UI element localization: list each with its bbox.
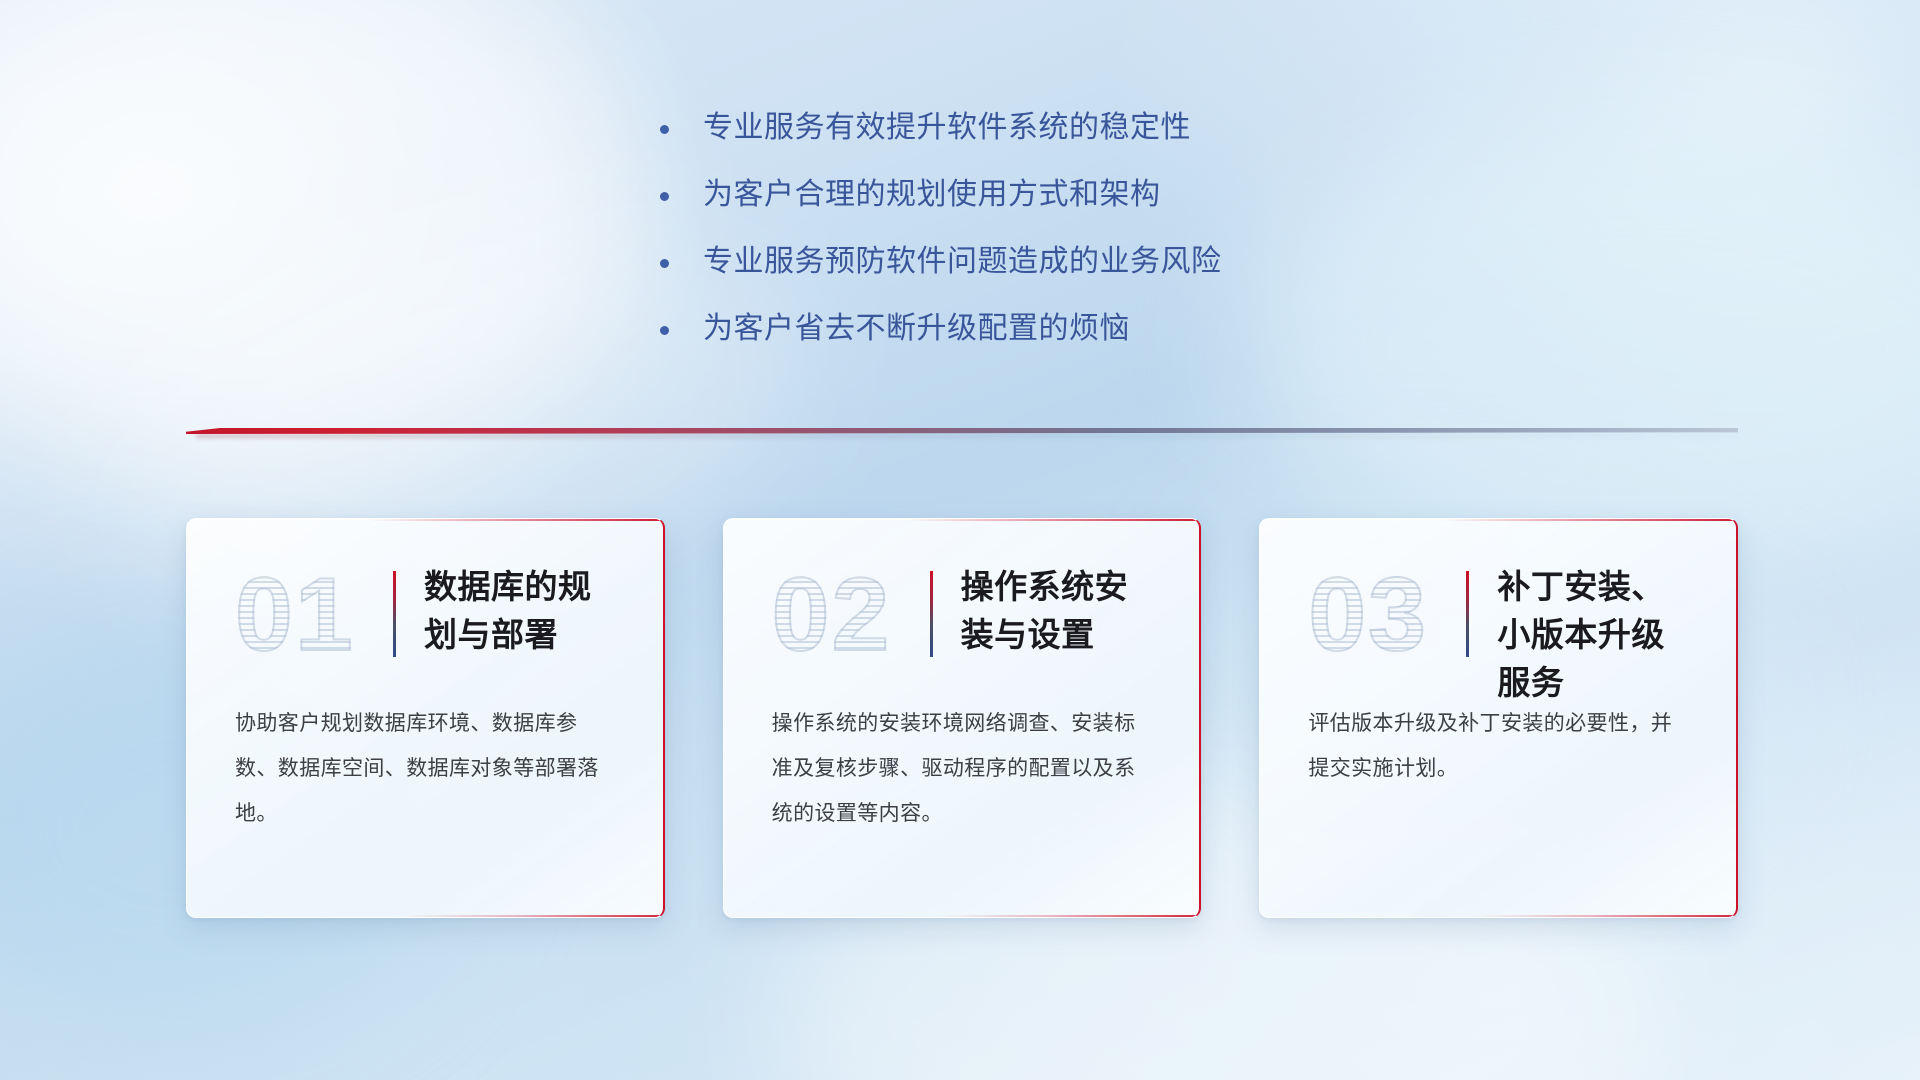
card-bottom-accent xyxy=(187,915,663,917)
card-divider-rule xyxy=(393,571,396,657)
bullet-text: 为客户合理的规划使用方式和架构 xyxy=(703,175,1161,215)
card-title: 补丁安装、小版本升级服务 xyxy=(1497,563,1694,707)
service-card-01[interactable]: 01 数据库的规划与部署 协助客户规划数据库环境、数据库参数、数据库空间、数据库… xyxy=(186,518,665,918)
card-title: 数据库的规划与部署 xyxy=(424,563,621,659)
bullet-text: 为客户省去不断升级配置的烦恼 xyxy=(703,309,1130,349)
card-divider-rule xyxy=(1466,571,1469,657)
card-divider-rule xyxy=(930,571,933,657)
list-item: 专业服务有效提升软件系统的稳定性 xyxy=(660,108,1420,148)
bullet-text: 专业服务有效提升软件系统的稳定性 xyxy=(703,108,1191,148)
card-header: 02 操作系统安装与设置 xyxy=(724,519,1200,679)
background-light-streak xyxy=(0,0,640,460)
card-number: 03 xyxy=(1308,563,1458,667)
card-number: 01 xyxy=(235,563,385,667)
list-item: 为客户合理的规划使用方式和架构 xyxy=(660,175,1420,215)
bullet-dot-icon xyxy=(660,326,669,335)
list-item: 为客户省去不断升级配置的烦恼 xyxy=(660,309,1420,349)
divider-shadow xyxy=(196,434,1738,438)
bullet-dot-icon xyxy=(660,125,669,134)
service-card-02[interactable]: 02 操作系统安装与设置 操作系统的安装环境网络调查、安装标准及复核步骤、驱动程… xyxy=(723,518,1202,918)
benefits-bullet-list: 专业服务有效提升软件系统的稳定性 为客户合理的规划使用方式和架构 专业服务预防软… xyxy=(660,108,1420,376)
card-number: 02 xyxy=(772,563,922,667)
card-title: 操作系统安装与设置 xyxy=(961,563,1158,659)
bullet-dot-icon xyxy=(660,192,669,201)
card-header: 03 补丁安装、小版本升级服务 xyxy=(1260,519,1736,679)
section-divider xyxy=(186,428,1738,438)
bullet-dot-icon xyxy=(660,259,669,268)
card-bottom-accent xyxy=(724,915,1200,917)
service-card-group: 01 数据库的规划与部署 协助客户规划数据库环境、数据库参数、数据库空间、数据库… xyxy=(186,518,1738,918)
card-bottom-accent xyxy=(1260,915,1736,917)
card-body-text: 操作系统的安装环境网络调查、安装标准及复核步骤、驱动程序的配置以及系统的设置等内… xyxy=(724,679,1200,876)
card-body-text: 协助客户规划数据库环境、数据库参数、数据库空间、数据库对象等部署落地。 xyxy=(187,679,663,876)
bullet-text: 专业服务预防软件问题造成的业务风险 xyxy=(703,242,1222,282)
slide-canvas: 专业服务有效提升软件系统的稳定性 为客户合理的规划使用方式和架构 专业服务预防软… xyxy=(0,0,1920,1080)
list-item: 专业服务预防软件问题造成的业务风险 xyxy=(660,242,1420,282)
service-card-03[interactable]: 03 补丁安装、小版本升级服务 评估版本升级及补丁安装的必要性，并提交实施计划。 xyxy=(1259,518,1738,918)
card-header: 01 数据库的规划与部署 xyxy=(187,519,663,679)
